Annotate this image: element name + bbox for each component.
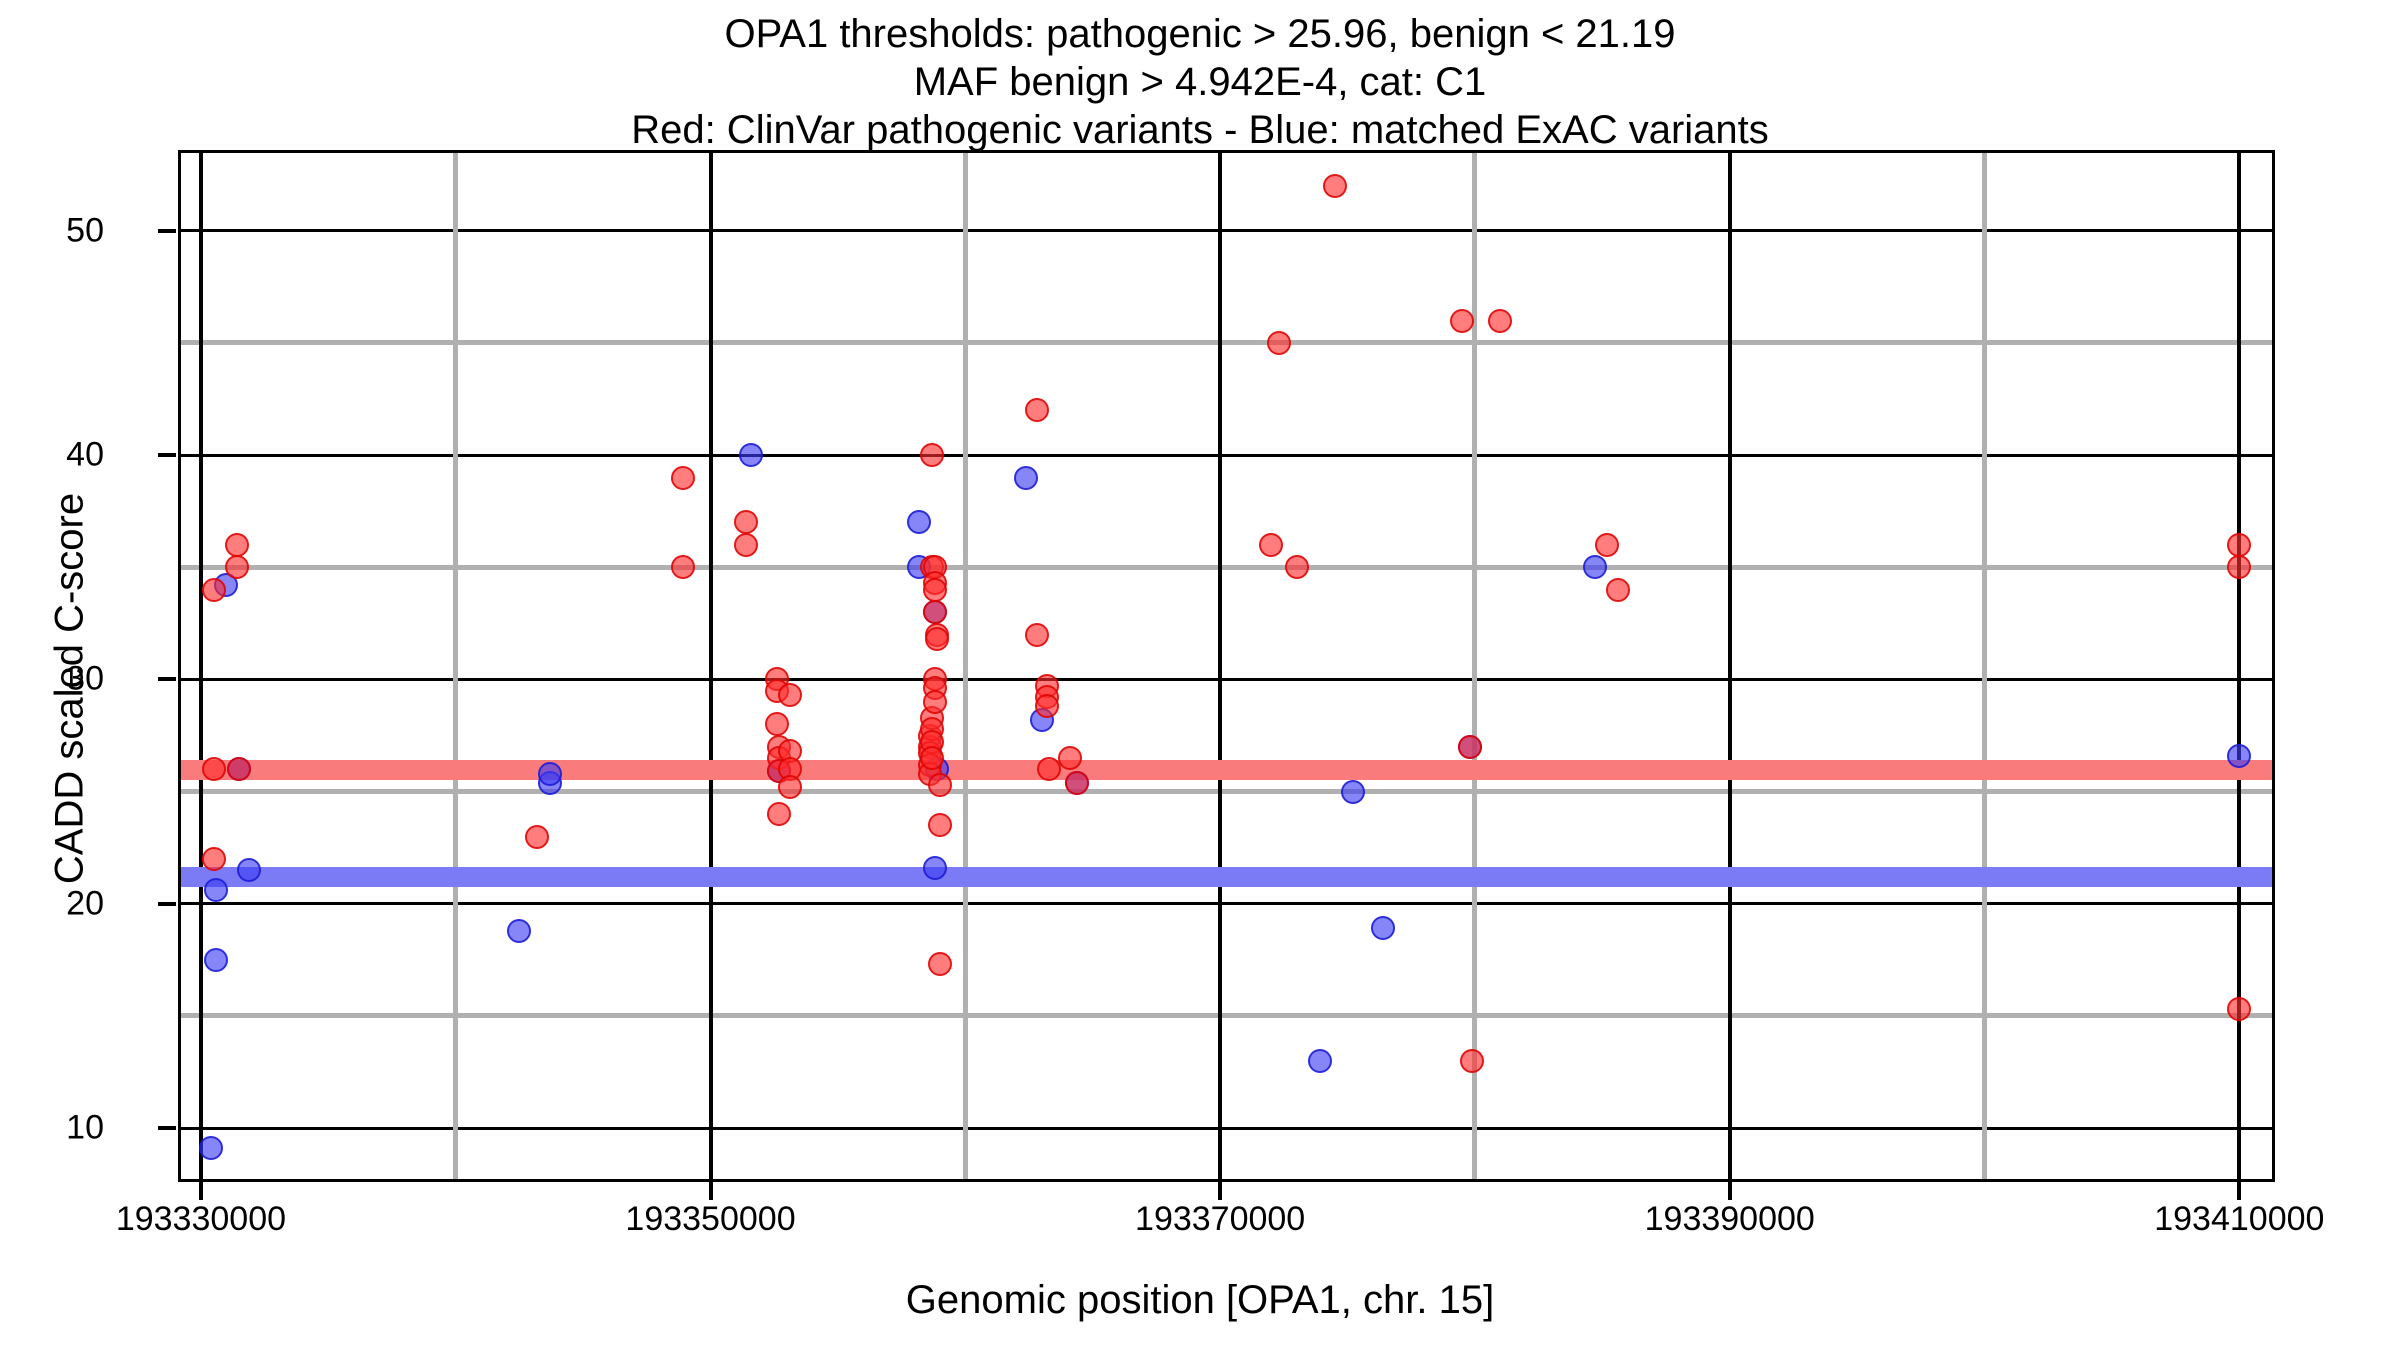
gridline-x-major <box>709 150 713 1182</box>
data-point-red <box>1460 1049 1484 1073</box>
x-tick-mark <box>709 1182 713 1200</box>
data-point-red <box>1035 694 1059 718</box>
data-point-blue <box>199 1136 223 1160</box>
gridline-x-minor <box>1472 150 1477 1182</box>
y-tick-label: 50 <box>0 211 104 250</box>
data-point-red <box>671 555 695 579</box>
data-point-red <box>928 952 952 976</box>
data-point-red <box>778 683 802 707</box>
y-axis-label: CADD scaled C-score <box>48 309 93 1069</box>
x-tick-label: 193330000 <box>41 1200 361 1239</box>
data-point-red <box>1323 174 1347 198</box>
x-tick-label: 193410000 <box>2079 1200 2399 1239</box>
data-point-red <box>1267 331 1291 355</box>
data-point-blue <box>1308 1049 1332 1073</box>
scatter-plot-figure: OPA1 thresholds: pathogenic > 25.96, ben… <box>0 0 2400 1350</box>
gridline-y-major <box>178 229 2275 232</box>
gridline-y-minor <box>178 565 2275 570</box>
data-point-red <box>734 510 758 534</box>
x-tick-mark <box>2237 1182 2241 1200</box>
pathogenic-threshold-band <box>178 760 2275 780</box>
y-tick-label: 10 <box>0 1109 104 1148</box>
plot-area <box>178 150 2275 1182</box>
gridline-x-minor <box>453 150 458 1182</box>
data-point-red <box>920 443 944 467</box>
data-point-blue <box>1371 916 1395 940</box>
data-point-red <box>767 802 791 826</box>
gridline-x-major <box>1728 150 1732 1182</box>
data-point-blue <box>907 510 931 534</box>
chart-title: OPA1 thresholds: pathogenic > 25.96, ben… <box>0 10 2400 154</box>
data-point-red <box>2227 555 2251 579</box>
gridline-x-minor <box>1982 150 1987 1182</box>
data-point-red <box>920 746 944 770</box>
gridline-y-minor <box>178 789 2275 794</box>
data-point-red <box>923 578 947 602</box>
y-tick-mark <box>158 453 176 457</box>
data-point-blue <box>204 948 228 972</box>
data-point-red <box>1065 771 1089 795</box>
x-tick-label: 193350000 <box>551 1200 871 1239</box>
data-point-red <box>925 627 949 651</box>
gridline-x-minor <box>963 150 968 1182</box>
gridline-y-major <box>178 678 2275 681</box>
y-tick-mark <box>158 902 176 906</box>
data-point-blue <box>1014 466 1038 490</box>
data-point-red <box>1458 735 1482 759</box>
data-point-red <box>202 847 226 871</box>
data-point-red <box>1025 623 1049 647</box>
benign-threshold-band <box>178 867 2275 887</box>
data-point-blue <box>1583 555 1607 579</box>
data-point-red <box>671 466 695 490</box>
data-point-red <box>928 813 952 837</box>
x-tick-mark <box>1728 1182 1732 1200</box>
gridline-y-minor <box>178 1013 2275 1018</box>
data-point-blue <box>538 762 562 786</box>
data-point-red <box>1450 309 1474 333</box>
gridline-x-major <box>2237 150 2241 1182</box>
y-tick-mark <box>158 229 176 233</box>
x-tick-label: 193390000 <box>1570 1200 1890 1239</box>
gridline-y-major <box>178 902 2275 905</box>
data-point-blue <box>739 443 763 467</box>
x-tick-mark <box>199 1182 203 1200</box>
data-point-red <box>202 757 226 781</box>
gridline-y-major <box>178 454 2275 457</box>
x-axis-label: Genomic position [OPA1, chr. 15] <box>0 1278 2400 1323</box>
gridline-x-major <box>199 150 203 1182</box>
data-point-blue <box>923 856 947 880</box>
data-point-blue <box>204 878 228 902</box>
data-point-red <box>923 600 947 624</box>
data-point-blue <box>507 919 531 943</box>
title-line-1: OPA1 thresholds: pathogenic > 25.96, ben… <box>0 10 2400 58</box>
data-point-red <box>1595 533 1619 557</box>
data-point-blue <box>1341 780 1365 804</box>
data-point-red <box>225 555 249 579</box>
data-point-red <box>1606 578 1630 602</box>
gridline-y-major <box>178 1127 2275 1130</box>
data-point-red <box>765 712 789 736</box>
panel-border <box>178 150 2275 1182</box>
data-point-red <box>1058 746 1082 770</box>
data-point-red <box>1285 555 1309 579</box>
data-point-red <box>778 775 802 799</box>
y-tick-mark <box>158 677 176 681</box>
x-tick-mark <box>1218 1182 1222 1200</box>
y-tick-mark <box>158 1126 176 1130</box>
data-point-red <box>928 773 952 797</box>
data-point-red <box>225 533 249 557</box>
x-tick-label: 193370000 <box>1060 1200 1380 1239</box>
data-point-red <box>923 690 947 714</box>
gridline-y-minor <box>178 340 2275 345</box>
data-point-red <box>734 533 758 557</box>
data-point-red <box>1259 533 1283 557</box>
data-point-red <box>525 825 549 849</box>
title-line-3: Red: ClinVar pathogenic variants - Blue:… <box>0 106 2400 154</box>
data-point-red <box>1488 309 1512 333</box>
data-point-red <box>2227 533 2251 557</box>
title-line-2: MAF benign > 4.942E-4, cat: C1 <box>0 58 2400 106</box>
gridline-x-major <box>1218 150 1222 1182</box>
data-point-red <box>1025 398 1049 422</box>
data-point-blue <box>2227 744 2251 768</box>
data-point-red <box>202 578 226 602</box>
